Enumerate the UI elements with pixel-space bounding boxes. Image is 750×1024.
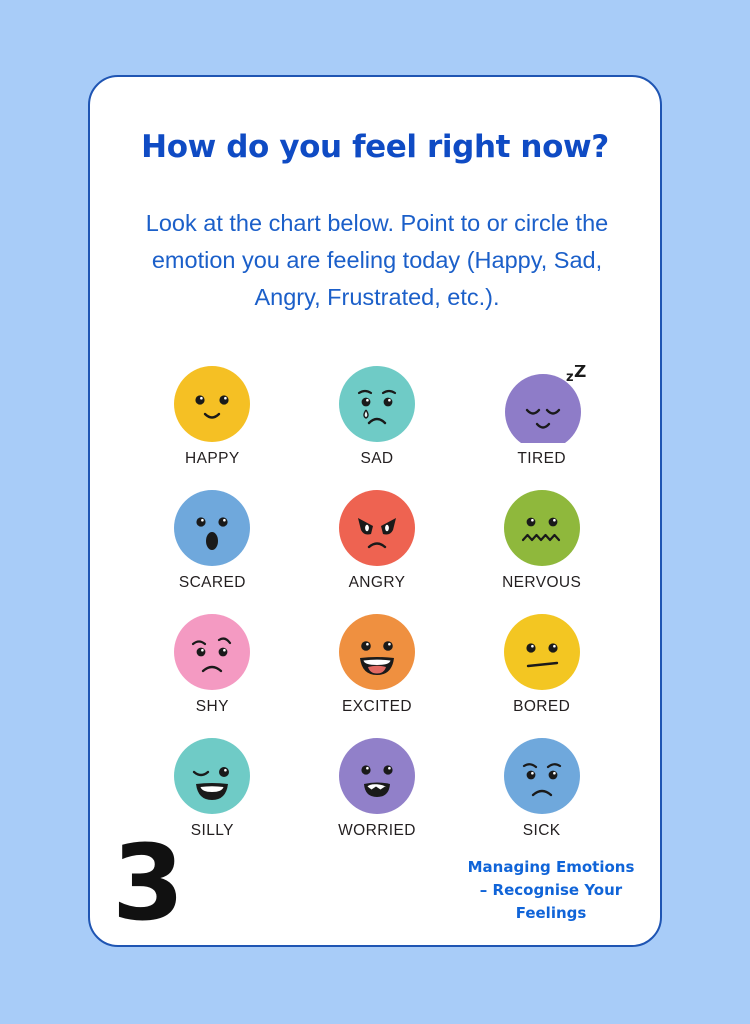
emotion-label: SHY bbox=[196, 698, 229, 716]
svg-text:Z: Z bbox=[574, 365, 586, 382]
emotion-option-bored[interactable]: BORED bbox=[459, 613, 624, 716]
scared-face-icon[interactable] bbox=[164, 489, 260, 567]
emotion-option-happy[interactable]: HAPPY bbox=[130, 365, 295, 468]
worried-face-icon[interactable] bbox=[329, 737, 425, 815]
emotion-option-shy[interactable]: SHY bbox=[130, 613, 295, 716]
emotion-option-nervous[interactable]: NERVOUS bbox=[459, 489, 624, 592]
happy-face-icon[interactable] bbox=[164, 365, 260, 443]
emotion-option-worried[interactable]: WORRIED bbox=[295, 737, 460, 840]
emotion-option-sad[interactable]: SAD bbox=[295, 365, 460, 468]
tired-face-icon[interactable]: zZ bbox=[494, 365, 590, 443]
emotion-option-excited[interactable]: EXCITED bbox=[295, 613, 460, 716]
bored-face-icon[interactable] bbox=[494, 613, 590, 691]
emotion-option-angry[interactable]: ANGRY bbox=[295, 489, 460, 592]
page-title: How do you feel right now? bbox=[90, 129, 660, 165]
sick-face-icon[interactable] bbox=[494, 737, 590, 815]
flashcard: How do you feel right now? Look at the c… bbox=[88, 75, 662, 947]
emotion-label: SAD bbox=[360, 450, 393, 468]
nervous-face-icon[interactable] bbox=[494, 489, 590, 567]
emotion-label: NERVOUS bbox=[502, 574, 581, 592]
shy-face-icon[interactable] bbox=[164, 613, 260, 691]
emotion-label: SICK bbox=[523, 822, 561, 840]
emotion-label: SCARED bbox=[179, 574, 246, 592]
emotion-option-scared[interactable]: SCARED bbox=[130, 489, 295, 592]
emotion-chart: HAPPYSADzZTIREDSCAREDANGRYNERVOUSSHYEXCI… bbox=[130, 365, 624, 840]
svg-text:z: z bbox=[566, 370, 574, 385]
instructions-text: Look at the chart below. Point to or cir… bbox=[136, 205, 618, 316]
emotion-label: EXCITED bbox=[342, 698, 412, 716]
emotion-option-tired[interactable]: zZTIRED bbox=[459, 365, 624, 468]
emotion-label: WORRIED bbox=[338, 822, 416, 840]
silly-face-icon[interactable] bbox=[164, 737, 260, 815]
emotion-label: SILLY bbox=[191, 822, 234, 840]
emotion-label: TIRED bbox=[517, 450, 566, 468]
footer-topic-label: Managing Emotions – Recognise Your Feeli… bbox=[466, 856, 636, 925]
emotion-option-sick[interactable]: SICK bbox=[459, 737, 624, 840]
angry-face-icon[interactable] bbox=[329, 489, 425, 567]
sad-face-icon[interactable] bbox=[329, 365, 425, 443]
card-number: 3 bbox=[112, 831, 184, 935]
excited-face-icon[interactable] bbox=[329, 613, 425, 691]
emotion-label: HAPPY bbox=[185, 450, 240, 468]
emotion-label: BORED bbox=[513, 698, 570, 716]
emotion-label: ANGRY bbox=[349, 574, 406, 592]
